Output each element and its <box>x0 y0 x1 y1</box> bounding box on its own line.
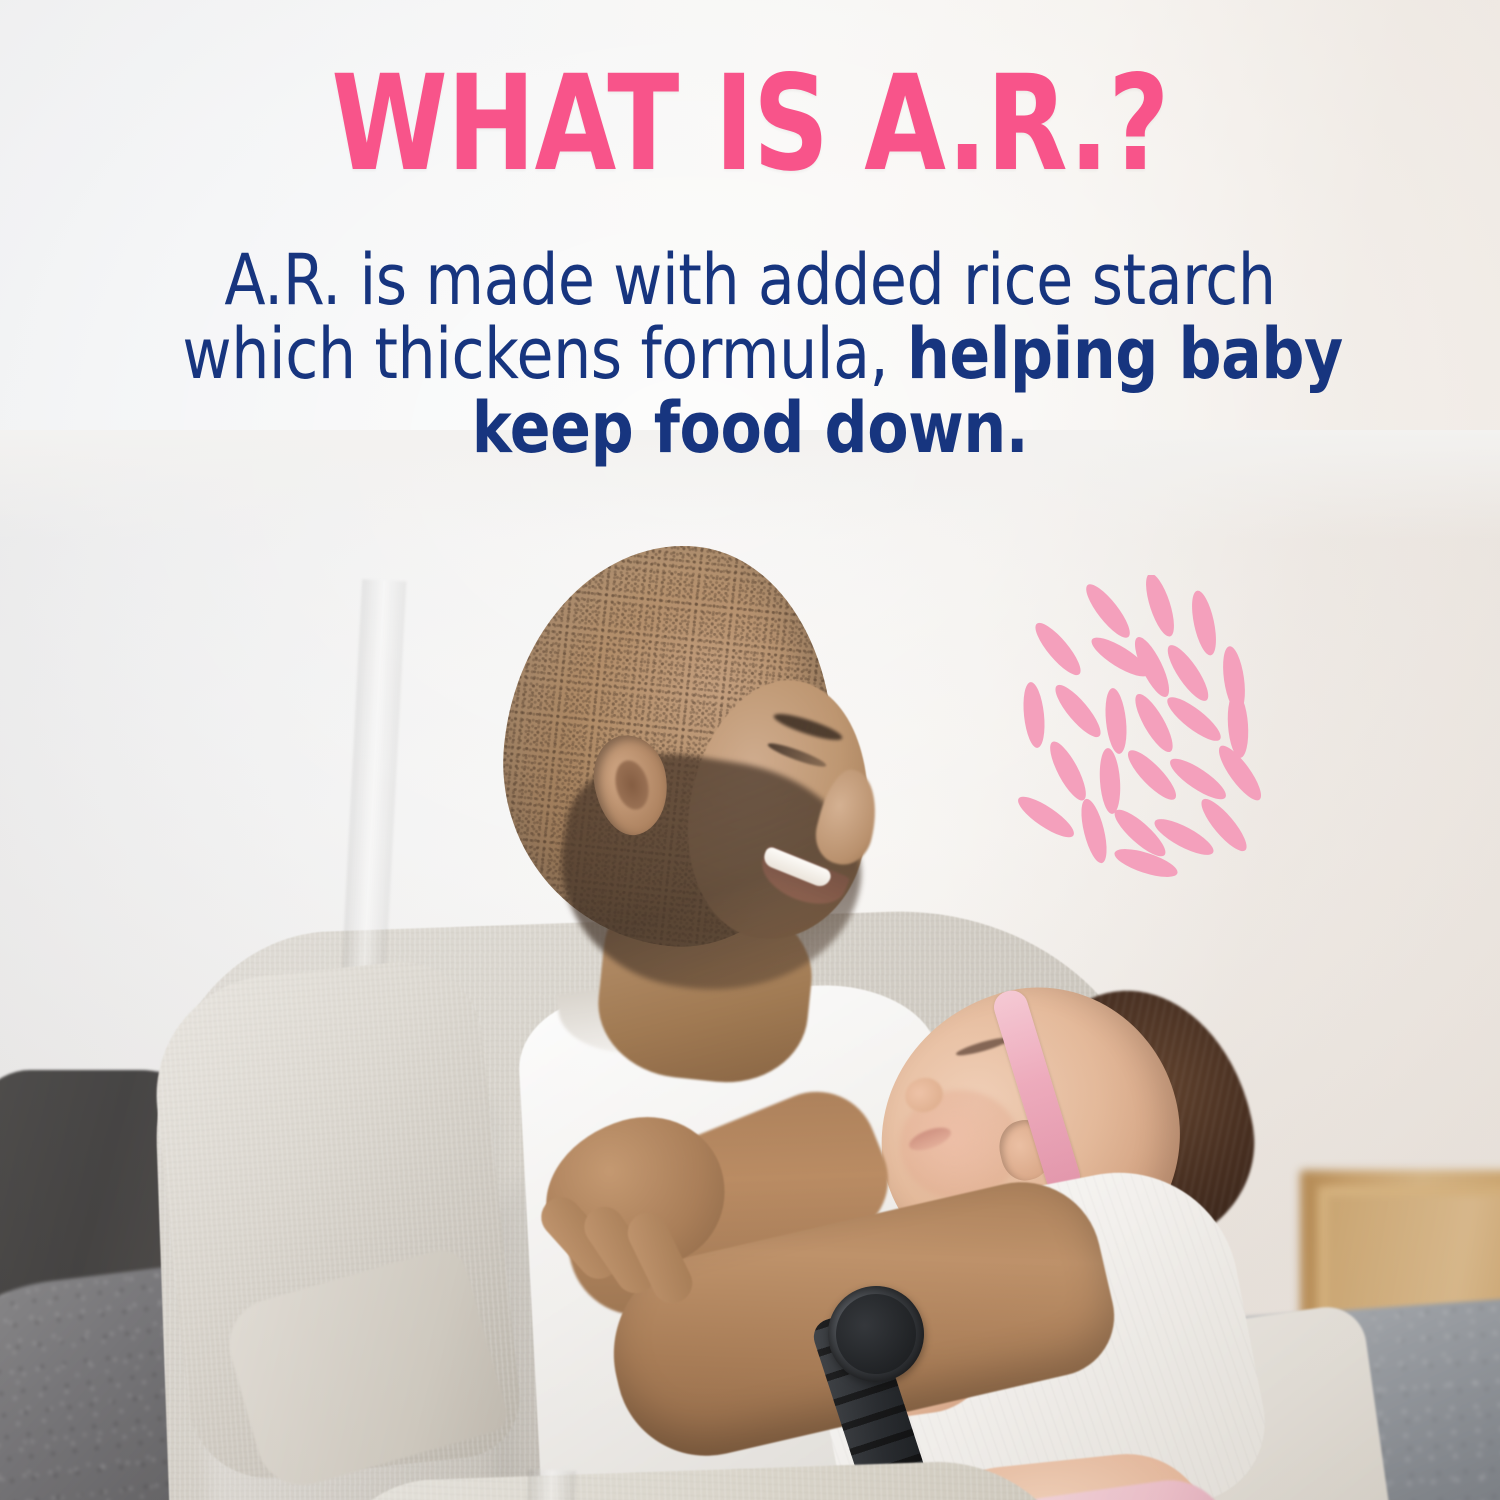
rice-grain <box>1140 575 1179 639</box>
rice-grain-cluster-icon <box>1012 575 1274 885</box>
body-line-2-bold: helping baby <box>907 313 1343 395</box>
rice-grain <box>1029 617 1087 680</box>
rice-grain <box>1187 589 1220 658</box>
rice-grain <box>1122 744 1182 805</box>
ad-creative-canvas: WHAT IS A.R.? A.R. is made with added ri… <box>0 0 1500 1500</box>
rice-grain <box>1021 681 1048 749</box>
body-line-3: keep food down. <box>182 391 1317 465</box>
rice-grain <box>1044 737 1093 805</box>
rice-grain <box>1013 790 1079 843</box>
page-title: WHAT IS A.R.? <box>150 58 1350 190</box>
body-line-2-regular: which thickens formula, <box>182 313 907 395</box>
lifestyle-photograph <box>0 430 1500 1500</box>
rice-grain <box>1080 579 1136 643</box>
body-line-2: which thickens formula, helping baby <box>182 317 1317 391</box>
body-copy: A.R. is made with added rice starch whic… <box>90 243 1410 465</box>
rice-grain <box>1049 679 1107 742</box>
rice-grain <box>1103 687 1130 755</box>
rice-grain <box>1098 747 1123 814</box>
body-line-1: A.R. is made with added rice starch <box>182 243 1317 317</box>
body-line-3-bold: keep food down. <box>472 387 1028 469</box>
